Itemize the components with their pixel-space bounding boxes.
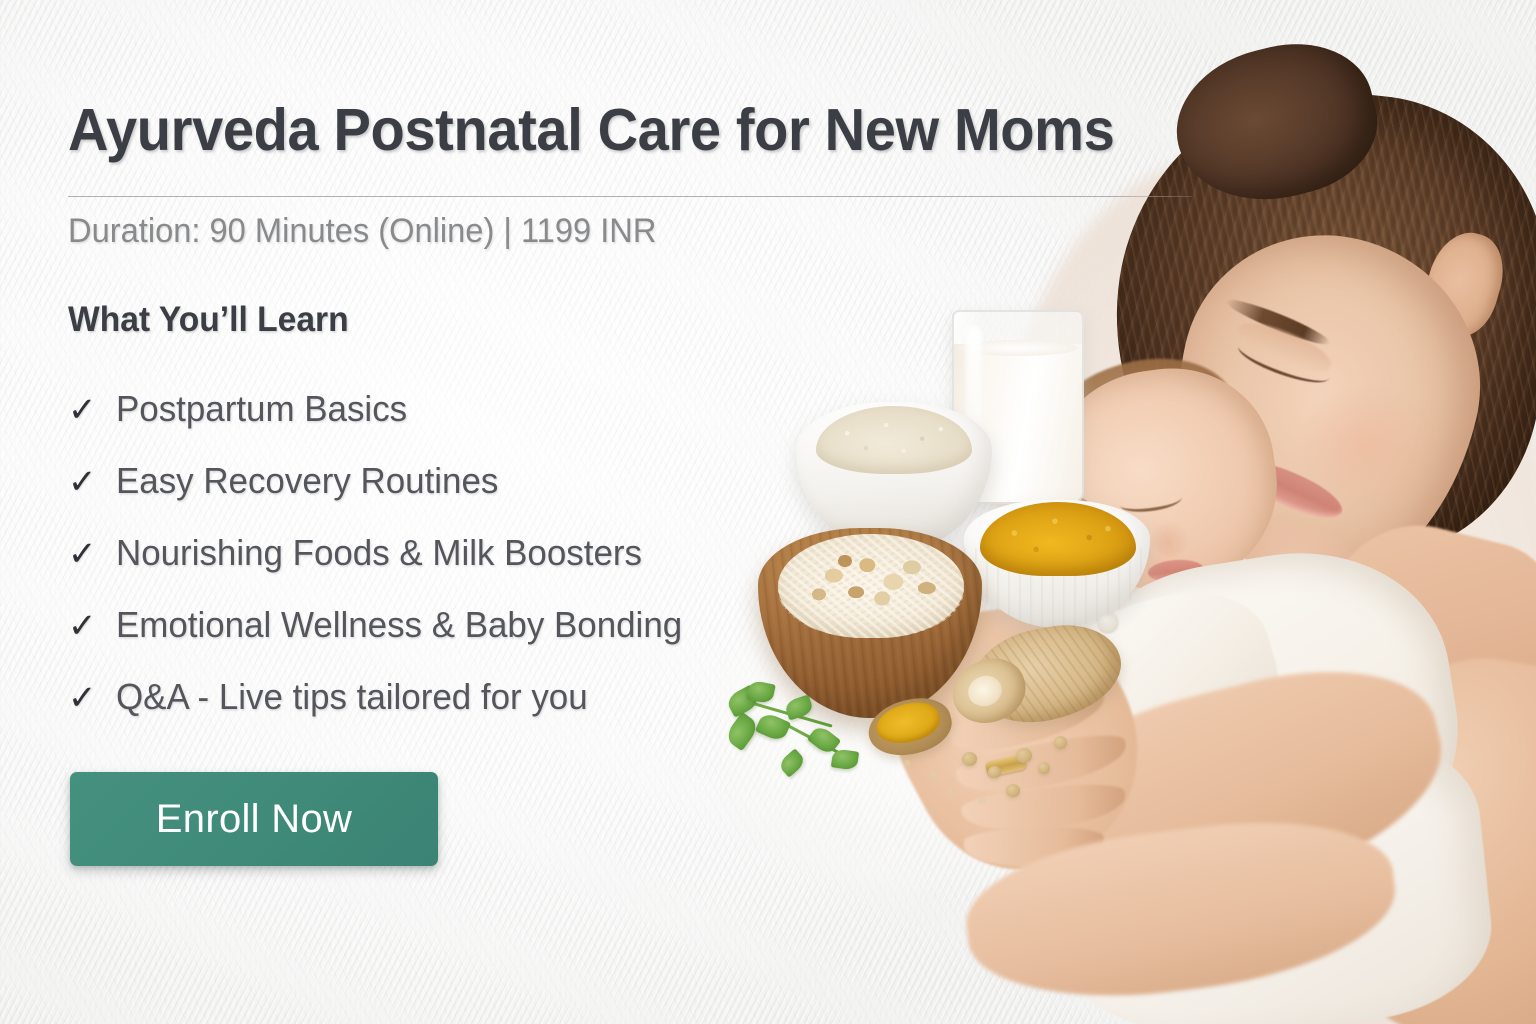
check-icon: ✓ [68,609,116,643]
promo-banner: Ayurveda Postnatal Care for New Moms Dur… [0,0,1536,1024]
list-item: ✓ Postpartum Basics [68,388,1068,460]
learn-list: ✓ Postpartum Basics ✓ Easy Recovery Rout… [68,388,1068,748]
list-item: ✓ Nourishing Foods & Milk Boosters [68,532,1068,604]
list-item-label: Q&A - Live tips tailored for you [116,676,588,718]
list-item: ✓ Easy Recovery Routines [68,460,1068,532]
text-content: Ayurveda Postnatal Care for New Moms Dur… [68,0,1198,1024]
learn-heading: What You’ll Learn [68,300,349,340]
check-icon: ✓ [68,537,116,571]
page-title: Ayurveda Postnatal Care for New Moms [68,96,1114,164]
enroll-now-button[interactable]: Enroll Now [70,772,438,866]
list-item: ✓ Emotional Wellness & Baby Bonding [68,604,1068,676]
list-item-label: Emotional Wellness & Baby Bonding [116,604,682,646]
check-icon: ✓ [68,393,116,427]
title-divider [68,196,1192,197]
list-item-label: Nourishing Foods & Milk Boosters [116,532,642,574]
list-item-label: Postpartum Basics [116,388,407,430]
check-icon: ✓ [68,465,116,499]
list-item: ✓ Q&A - Live tips tailored for you [68,676,1068,748]
check-icon: ✓ [68,681,116,715]
course-meta: Duration: 90 Minutes (Online) | 1199 INR [68,212,656,251]
list-item-label: Easy Recovery Routines [116,460,498,502]
